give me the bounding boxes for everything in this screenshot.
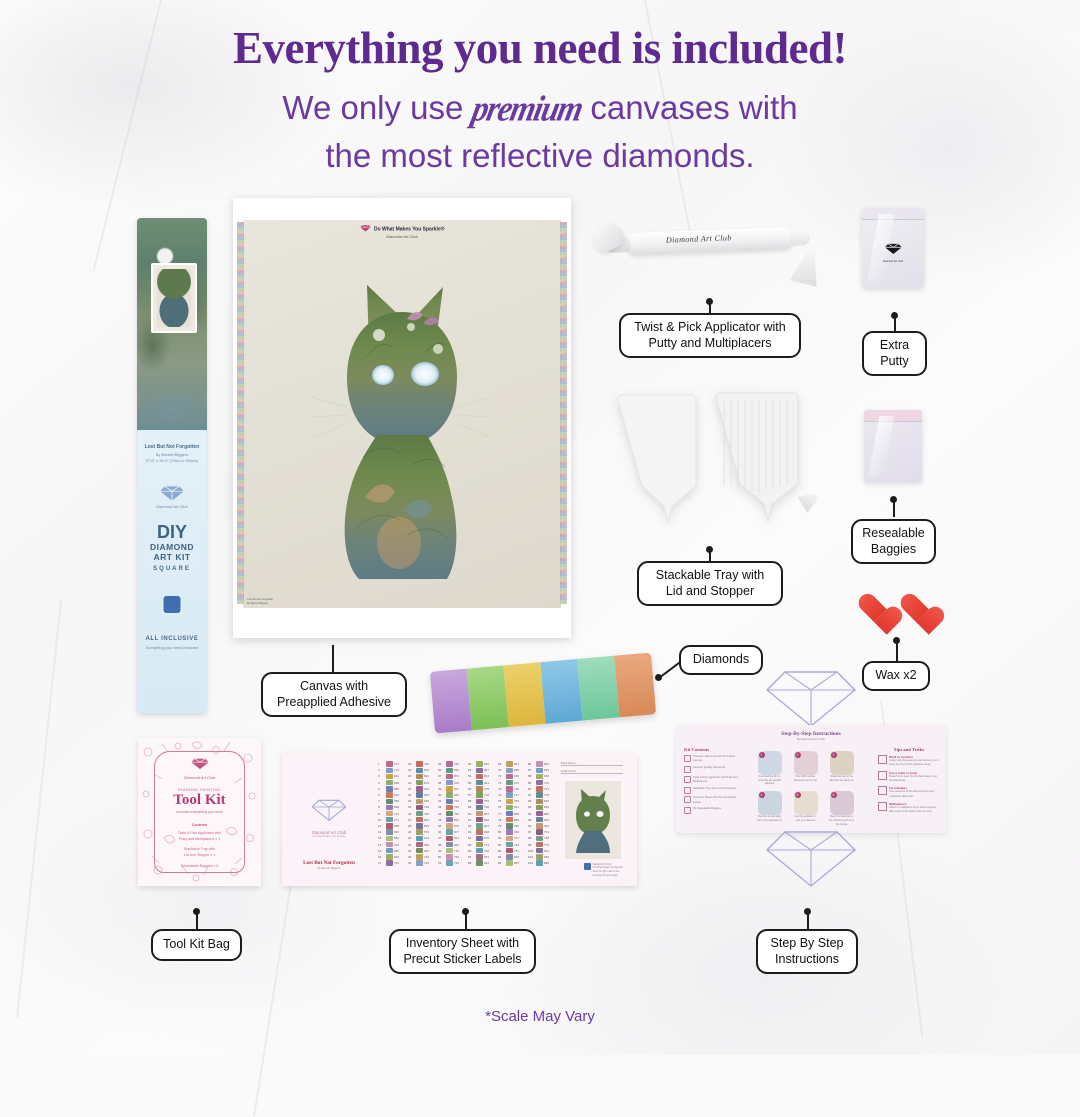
subtitle-line-2: the most reflective diamonds. bbox=[325, 137, 754, 174]
tip-item-text: Cover only the area you are working on t… bbox=[889, 759, 940, 768]
instruction-step-photo: 1 bbox=[758, 751, 782, 775]
callout-baggies[interactable]: Resealable Baggies bbox=[851, 519, 936, 564]
leader-dot-applicator bbox=[706, 298, 713, 305]
steps-grid: 1Peel back the film to reveal the pre-ap… bbox=[754, 751, 862, 826]
toolkit-title: Tool Kit bbox=[155, 792, 244, 809]
instruction-step-text: Shake the tray so the diamonds are facin… bbox=[829, 775, 855, 782]
inventory-color-grid: 1737277438114848588569227959899697341077… bbox=[378, 761, 554, 880]
kit-contents-item-label: Stackable Tray with Lid and Stopper bbox=[693, 787, 736, 791]
toolkit-contents-header: Contents bbox=[155, 823, 244, 827]
canvas-edge-swatches-right bbox=[560, 222, 567, 604]
tip-item-icon bbox=[878, 802, 887, 811]
leader-line-canvas bbox=[332, 645, 334, 673]
leader-dot-inventory bbox=[462, 908, 469, 915]
leader-dot-diamonds bbox=[655, 674, 662, 681]
kit-contents-item: (6) Resealable Baggies bbox=[684, 807, 740, 814]
tube-label: Lost But Not Forgotten By Barrett Bigger… bbox=[137, 430, 207, 713]
tip-item: Use a roller or bookPress firmly over th… bbox=[878, 771, 940, 784]
tube-square-drill-icon bbox=[164, 596, 181, 613]
instruction-step-photo: 4 bbox=[758, 791, 782, 815]
canvas-design-name: Lost But Not Forgotten bbox=[247, 598, 273, 601]
leader-dot-instructions bbox=[804, 908, 811, 915]
callout-diamonds[interactable]: Diamonds bbox=[679, 645, 763, 675]
inventory-footer-note: Diamond Art ClubDo What Makes You Sparkl… bbox=[584, 863, 623, 878]
instruction-step-text: Peel back the film to reveal the pre-app… bbox=[757, 775, 783, 786]
tip-item: MultiplacersAttach a multiplacer tip to … bbox=[878, 802, 940, 815]
inventory-row: 51793 bbox=[438, 860, 464, 866]
tube-size-line: 27.6" x 39.4" (70cm x 100cm) bbox=[137, 458, 207, 464]
inventory-fields: Paint Name: Total Count: bbox=[561, 761, 623, 774]
subtitle-emphasis: premium bbox=[467, 82, 587, 135]
pen-end-cap bbox=[790, 229, 811, 246]
inventory-column: 3579936836378733891039947409844172242759… bbox=[438, 761, 464, 880]
leader-dot-baggies bbox=[890, 496, 897, 503]
page-subtitle: We only use premium canvases with the mo… bbox=[0, 84, 1080, 180]
tube-kit-line-3: ART KIT bbox=[137, 552, 207, 562]
tube-kit-line-2: DIAMOND bbox=[137, 542, 207, 552]
inventory-artwork-thumbnail bbox=[565, 781, 621, 859]
instructions-subtitle: By Diamond Art Club bbox=[676, 737, 946, 741]
page-title: Everything you need is included! bbox=[0, 22, 1080, 74]
canvas-diamond-logo-icon bbox=[360, 224, 371, 234]
inventory-field-1: Paint Name: bbox=[561, 761, 623, 766]
callout-tray[interactable]: Stackable Tray with Lid and Stopper bbox=[637, 561, 783, 606]
kit-contents-header: Kit Contents bbox=[684, 747, 740, 752]
subtitle-part-2: canvases with bbox=[590, 89, 797, 126]
canvas-tagline: Do What Makes You Sparkle® Diamond Art C… bbox=[243, 224, 561, 239]
instruction-step-number: 5 bbox=[795, 792, 801, 798]
instruction-step: 4Twist the tip and apply wax to the appl… bbox=[754, 791, 785, 826]
resealable-baggie bbox=[864, 410, 922, 482]
kit-contents-item-icon bbox=[684, 796, 691, 803]
instruction-step-number: 1 bbox=[759, 752, 765, 758]
callout-wax[interactable]: Wax x2 bbox=[862, 661, 930, 691]
stackable-tray bbox=[712, 390, 802, 524]
baggie-brand-text: Diamond Art Club bbox=[883, 260, 903, 263]
instructions-diamond-bottom-icon bbox=[763, 828, 859, 888]
kit-contents-item: Inventory Sheet with Pre-Cut Sticker Lab… bbox=[684, 796, 740, 805]
instruction-step-photo: 2 bbox=[794, 751, 818, 775]
inventory-column: 5283053867549045594156978577165875359790… bbox=[468, 761, 494, 880]
tube-diamond-logo bbox=[159, 484, 185, 502]
tool-kit-bag: Diamond Art Club DIAMOND PAINTING Tool K… bbox=[138, 738, 261, 886]
inventory-field-2: Total Count: bbox=[561, 769, 623, 774]
inventory-column: 6986170898719357297273710747477578476821… bbox=[498, 761, 524, 880]
canvas-brand-script: Diamond Art Club bbox=[243, 234, 561, 239]
canvas-artist-line: By Barrett Biggers bbox=[247, 602, 268, 605]
scale-note: *Scale May Vary bbox=[0, 1008, 1080, 1025]
tip-item-icon bbox=[878, 771, 887, 780]
leader-dot-toolkit bbox=[193, 908, 200, 915]
inventory-row: 34762 bbox=[408, 860, 434, 866]
toolkit-brand: Diamond Art Club bbox=[155, 775, 244, 780]
tube-footer-sub: Everything you need included bbox=[137, 645, 207, 651]
tip-item: Fix mistakesUse tweezers to lift and rep… bbox=[878, 786, 940, 799]
subtitle-part-1: We only use bbox=[282, 89, 463, 126]
extra-putty-baggie: Diamond Art Club bbox=[862, 208, 924, 288]
callout-extra-putty[interactable]: Extra Putty bbox=[862, 331, 927, 376]
instruction-step: 5Use the applicator to pick up a diamond bbox=[790, 791, 821, 826]
toolkit-contents-2: Putty and Multiplacers x 1 bbox=[155, 836, 244, 842]
kit-contents-item: Twist & Pick Applicator with Putty and M… bbox=[684, 776, 740, 785]
instruction-step: 1Peel back the film to reveal the pre-ap… bbox=[754, 751, 785, 786]
kit-contents-block: Kit Contents Premium Velvet Smooth Preco… bbox=[684, 747, 740, 817]
instructions-diamond-top-icon bbox=[763, 668, 859, 728]
instruction-step-number: 3 bbox=[831, 752, 837, 758]
kit-contents-item-icon bbox=[684, 787, 691, 794]
instruction-step: 2Pour DMC number diamonds into the tray bbox=[790, 751, 821, 786]
leader-dot-tray bbox=[706, 546, 713, 553]
stackable-tray-lid bbox=[614, 392, 700, 524]
tip-item-text: Attach a multiplacer tip to place severa… bbox=[889, 806, 940, 815]
product-tube-package: Lost But Not Forgotten By Barrett Bigger… bbox=[137, 218, 207, 713]
instruction-step: 3Shake the tray so the diamonds are faci… bbox=[826, 751, 857, 786]
instruction-step-text: Place the diamond on the matching symbol… bbox=[829, 815, 855, 826]
inventory-column: 1876819805208422187922916239532499025728… bbox=[408, 761, 434, 880]
inventory-column: 1737277438114848588569227959899697341077… bbox=[378, 761, 404, 880]
inventory-column: 8689287929889668970490741917789281593852… bbox=[528, 761, 554, 880]
pen-brand-script: Diamond Art Club bbox=[666, 233, 732, 245]
tip-item-text: Use tweezers to lift and reposition any … bbox=[889, 790, 940, 799]
tip-item-icon bbox=[878, 755, 887, 764]
canvas-tagline-text: Do What Makes You Sparkle® bbox=[374, 226, 444, 232]
kit-contents-item: Superior Quality Diamonds bbox=[684, 766, 740, 773]
inventory-row: 17731 bbox=[378, 860, 404, 866]
tips-header: Tips and Tricks bbox=[878, 747, 940, 752]
tips-block: Tips and Tricks Work in sectionsCover on… bbox=[878, 747, 940, 818]
instruction-step-photo: 3 bbox=[830, 751, 854, 775]
kit-contents-item: Premium Velvet Smooth Precoated Canvas bbox=[684, 755, 740, 764]
tip-item-icon bbox=[878, 786, 887, 795]
wax-heart-2 bbox=[899, 595, 933, 626]
kit-contents-item: Stackable Tray with Lid and Stopper bbox=[684, 787, 740, 794]
leader-dot-wax bbox=[893, 637, 900, 644]
callout-canvas[interactable]: Canvas with Preapplied Adhesive bbox=[261, 672, 407, 717]
instructions-panel: Step-By-Step Instructions By Diamond Art… bbox=[676, 725, 946, 833]
tip-item: Work in sectionsCover only the area you … bbox=[878, 755, 940, 768]
instruction-step-text: Use the applicator to pick up a diamond bbox=[793, 815, 819, 822]
canvas-print-area: Do What Makes You Sparkle® Diamond Art C… bbox=[243, 220, 561, 608]
inventory-brand-sub: Do What Makes You Sparkle bbox=[296, 835, 362, 838]
inventory-branding: Diamond Art Club Do What Makes You Spark… bbox=[296, 797, 362, 870]
instruction-step-number: 4 bbox=[759, 792, 765, 798]
tube-artwork-thumbnail bbox=[151, 263, 197, 333]
leader-dot-extra-putty bbox=[891, 312, 898, 319]
callout-applicator[interactable]: Twist & Pick Applicator with Putty and M… bbox=[619, 313, 801, 358]
instruction-step-number: 2 bbox=[795, 752, 801, 758]
inventory-diamond-icon bbox=[312, 797, 346, 822]
kit-contents-item-label: Inventory Sheet with Pre-Cut Sticker Lab… bbox=[693, 796, 740, 805]
canvas-cat-artwork bbox=[307, 257, 497, 587]
toolkit-contents-5: Resealable Baggies x 6 bbox=[155, 863, 244, 869]
wax-heart-1 bbox=[857, 595, 891, 626]
tube-footer: ALL INCLUSIVE bbox=[137, 636, 207, 642]
instruction-step-text: Pour DMC number diamonds into the tray bbox=[793, 775, 819, 782]
tube-kit-line-1: DIY bbox=[137, 522, 207, 543]
canvas-footer-marks: Lost But Not Forgotten By Barrett Bigger… bbox=[243, 596, 561, 606]
instruction-step-number: 6 bbox=[831, 792, 837, 798]
toolkit-label-panel: Diamond Art Club DIAMOND PAINTING Tool K… bbox=[154, 751, 245, 873]
kit-contents-item-label: (6) Resealable Baggies bbox=[693, 807, 721, 811]
callout-instructions[interactable]: Step By Step Instructions bbox=[756, 929, 858, 974]
inventory-artist-line: By Barrett Biggers bbox=[296, 866, 362, 870]
toolkit-tagline: Includes everything you need bbox=[155, 809, 244, 815]
callout-toolkit[interactable]: Tool Kit Bag bbox=[151, 929, 242, 961]
toolkit-contents-4: Lid and Stopper x 1 bbox=[155, 852, 244, 858]
kit-contents-item-label: Premium Velvet Smooth Precoated Canvas bbox=[693, 755, 740, 764]
kit-contents-item-icon bbox=[684, 766, 691, 773]
baggie-logo: Diamond Art Club bbox=[883, 242, 903, 263]
canvas-edge-swatches-left bbox=[237, 222, 244, 604]
inventory-square-icon bbox=[584, 863, 591, 870]
product-canvas: Do What Makes You Sparkle® Diamond Art C… bbox=[233, 198, 571, 638]
kit-contents-item-label: Superior Quality Diamonds bbox=[693, 766, 725, 770]
kit-contents-item-icon bbox=[684, 807, 691, 814]
instruction-step-text: Twist the tip and apply wax to the appli… bbox=[757, 815, 783, 822]
kit-contents-item-label: Twist & Pick Applicator with Putty and M… bbox=[693, 776, 740, 785]
toolkit-diamond-icon bbox=[155, 757, 244, 775]
instruction-step: 6Place the diamond on the matching symbo… bbox=[826, 791, 857, 826]
inventory-row: 85855 bbox=[498, 860, 524, 866]
tube-drill-type: SQUARE bbox=[137, 566, 207, 572]
inventory-row: 102886 bbox=[528, 860, 554, 866]
inventory-sheet: Diamond Art Club Do What Makes You Spark… bbox=[282, 753, 637, 886]
instructions-sheet: Step-By-Step Instructions By Diamond Art… bbox=[676, 668, 946, 890]
tube-brand: Diamond Art Club bbox=[137, 504, 207, 510]
tube-design-name: Lost But Not Forgotten bbox=[137, 444, 207, 450]
tip-item-text: Press firmly over the finished area to s… bbox=[889, 775, 940, 784]
instruction-step-photo: 6 bbox=[830, 791, 854, 815]
kit-contents-item-icon bbox=[684, 776, 691, 783]
inventory-row: 68824 bbox=[468, 860, 494, 866]
instruction-step-photo: 5 bbox=[794, 791, 818, 815]
callout-inventory[interactable]: Inventory Sheet with Precut Sticker Labe… bbox=[389, 929, 536, 974]
kit-contents-item-icon bbox=[684, 755, 691, 762]
